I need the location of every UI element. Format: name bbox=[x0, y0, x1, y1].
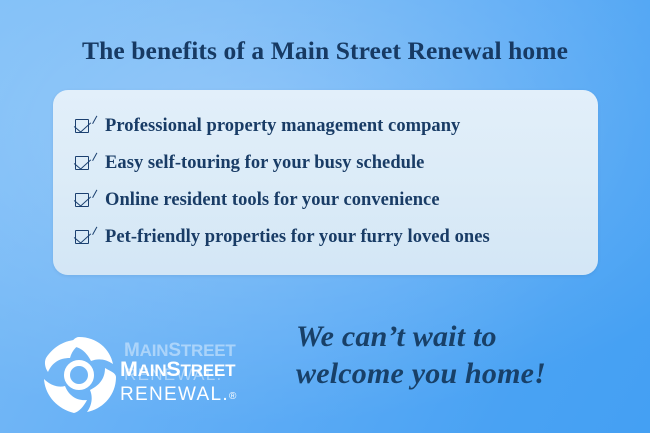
list-item-label: Easy self-touring for your busy schedule bbox=[105, 153, 424, 174]
logo-wordmark: MAINSTREET RENEWAL. MAINSTREET RENEWAL.® bbox=[120, 330, 270, 422]
benefits-list: Professional property management company… bbox=[53, 90, 598, 275]
logo-ain-solid: AIN bbox=[138, 361, 167, 380]
list-item: Pet-friendly properties for your furry l… bbox=[74, 224, 490, 250]
logo-wordmark-solid: MAINSTREET RENEWAL.® bbox=[120, 358, 238, 408]
tagline: We can’t wait to welcome you home! bbox=[296, 318, 626, 392]
list-item: Professional property management company bbox=[74, 113, 460, 139]
tagline-line-2: welcome you home! bbox=[296, 355, 626, 392]
logo-wordmark-main: MAINSTREET bbox=[120, 358, 238, 382]
list-item-label: Pet-friendly properties for your furry l… bbox=[105, 227, 490, 248]
logo-wordmark-sub: RENEWAL.® bbox=[120, 384, 238, 408]
promotional-poster: The benefits of a Main Street Renewal ho… bbox=[0, 0, 650, 433]
list-item-label: Online resident tools for your convenien… bbox=[105, 190, 440, 211]
logo-m-solid: M bbox=[120, 357, 138, 381]
list-item: Easy self-touring for your busy schedule bbox=[74, 150, 424, 176]
page-title: The benefits of a Main Street Renewal ho… bbox=[0, 36, 650, 66]
checkbox-checked-icon bbox=[74, 117, 93, 136]
checkbox-checked-icon bbox=[74, 191, 93, 210]
registered-mark-icon: ® bbox=[229, 391, 238, 402]
list-item: Online resident tools for your convenien… bbox=[74, 187, 440, 213]
checkbox-checked-icon bbox=[74, 228, 93, 247]
benefits-card: Professional property management company… bbox=[53, 90, 598, 275]
logo-sub-text: RENEWAL. bbox=[120, 384, 229, 405]
list-item-label: Professional property management company bbox=[105, 116, 460, 137]
tagline-line-1: We can’t wait to bbox=[296, 318, 626, 355]
logo-s-solid: S bbox=[166, 357, 180, 381]
checkbox-checked-icon bbox=[74, 154, 93, 173]
logo-treet-solid: TREET bbox=[181, 361, 236, 380]
brand-logo: MAINSTREET RENEWAL. MAINSTREET RENEWAL.® bbox=[36, 330, 266, 422]
mainstreet-renewal-pinwheel-icon bbox=[36, 332, 122, 418]
